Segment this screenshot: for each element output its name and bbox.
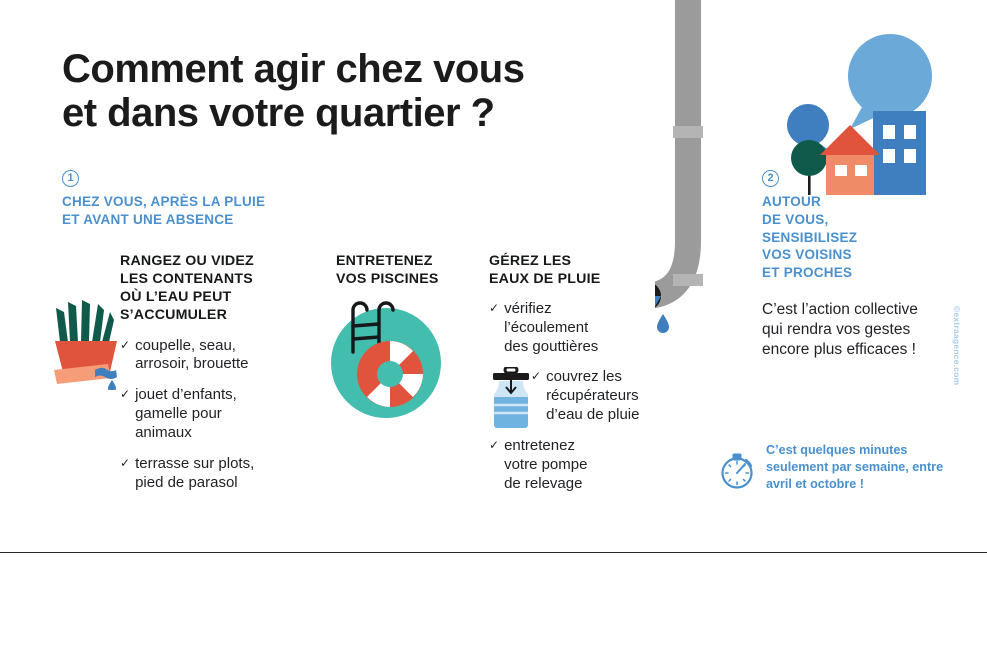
step-2-heading-line-3: SENSIBILISEZ: [762, 229, 962, 247]
list-item: ✓ jouet d’enfants, gamelle pour animaux: [120, 386, 300, 443]
column-1-heading-line-2: LES CONTENANTS: [120, 271, 300, 289]
step-1-block: 1 CHEZ VOUS, APRÈS LA PLUIE ET AVANT UNE…: [62, 168, 392, 228]
list-item-label: terrasse sur plots, pied de parasol: [135, 455, 254, 493]
title-line-2: et dans votre quartier ?: [62, 91, 662, 135]
list-item: ✓ terrasse sur plots, pied de parasol: [120, 455, 300, 493]
list-item: ✓ couvrez les récupérateurs d’eau de plu…: [531, 368, 654, 425]
step-1-heading-line-2: ET AVANT UNE ABSENCE: [62, 211, 392, 229]
credit-label: ©extraagence.com: [952, 306, 962, 385]
step-1-number-badge: 1: [62, 170, 79, 187]
step-2-heading: AUTOUR DE VOUS, SENSIBILISEZ VOS VOISINS…: [762, 193, 962, 282]
column-1-heading: RANGEZ OU VIDEZ LES CONTENANTS OÙ L’EAU …: [120, 253, 300, 325]
column-entretenez-vos-piscines: ENTRETENEZ VOS PISCINES: [336, 253, 496, 289]
step-2-note-text: C’est quelques minutes seulement par sem…: [766, 442, 956, 493]
column-2-heading-line-1: ENTRETENEZ: [336, 253, 496, 271]
swimming-pool-icon: [329, 296, 444, 421]
list-item-label: couvrez les récupérateurs d’eau de pluie: [546, 368, 639, 425]
footer: RÉPUBLIQUE FRANÇAISE Liberté Égalité Fra…: [0, 553, 987, 656]
list-item-label: jouet d’enfants, gamelle pour animaux: [135, 386, 237, 443]
check-icon: ✓: [120, 337, 130, 375]
column-3-heading-line-1: GÉREZ LES: [489, 253, 654, 271]
stopwatch-icon: [718, 447, 758, 489]
step-2-body-text: C’est l’action collective qui rendra vos…: [762, 300, 932, 360]
step-2-block: 2 AUTOUR DE VOUS, SENSIBILISEZ VOS VOISI…: [762, 168, 962, 282]
column-3-heading-line-2: EAUX DE PLUIE: [489, 271, 654, 289]
column-2-heading-line-2: VOS PISCINES: [336, 271, 496, 289]
column-3-heading: GÉREZ LES EAUX DE PLUIE: [489, 253, 654, 289]
column-2-heading: ENTRETENEZ VOS PISCINES: [336, 253, 496, 289]
check-icon: ✓: [120, 386, 130, 443]
step-2-number-badge: 2: [762, 170, 779, 187]
column-1-heading-line-3: OÙ L’EAU PEUT: [120, 289, 300, 307]
gutter-downspout-illustration: [655, 0, 775, 336]
list-item-label: coupelle, seau, arrosoir, brouette: [135, 337, 248, 375]
step-1-heading-line-1: CHEZ VOUS, APRÈS LA PLUIE: [62, 193, 392, 211]
check-icon: ✓: [120, 455, 130, 493]
column-rangez-ou-videz: RANGEZ OU VIDEZ LES CONTENANTS OÙ L’EAU …: [120, 253, 300, 505]
title-line-1: Comment agir chez vous: [62, 47, 524, 91]
list-item-label: vérifiez l’écoulement des gouttières: [504, 300, 598, 357]
list-item-label: entretenez votre pompe de relevage: [504, 437, 587, 494]
step-2-heading-line-2: DE VOUS,: [762, 211, 962, 229]
step-1-heading: CHEZ VOUS, APRÈS LA PLUIE ET AVANT UNE A…: [62, 193, 392, 228]
check-icon: ✓: [489, 300, 499, 357]
step-2-heading-line-5: ET PROCHES: [762, 264, 962, 282]
list-item: ✓ entretenez votre pompe de relevage: [489, 437, 654, 494]
step-2-heading-line-1: AUTOUR: [762, 193, 962, 211]
rain-barrel-icon: [488, 367, 534, 429]
list-item: ✓ coupelle, seau, arrosoir, brouette: [120, 337, 300, 375]
step-2-heading-line-4: VOS VOISINS: [762, 246, 962, 264]
column-1-heading-line-4: S’ACCUMULER: [120, 307, 300, 325]
column-1-heading-line-1: RANGEZ OU VIDEZ: [120, 253, 300, 271]
plant-pot-icon: [48, 298, 124, 390]
list-item: ✓ vérifiez l’écoulement des gouttières: [489, 300, 654, 357]
poster-canvas: Comment agir chez vous et dans votre qua…: [0, 0, 987, 656]
column-1-bullet-list: ✓ coupelle, seau, arrosoir, brouette ✓ j…: [120, 337, 300, 493]
check-icon: ✓: [489, 437, 499, 494]
page-title: Comment agir chez vous et dans votre qua…: [62, 47, 662, 135]
